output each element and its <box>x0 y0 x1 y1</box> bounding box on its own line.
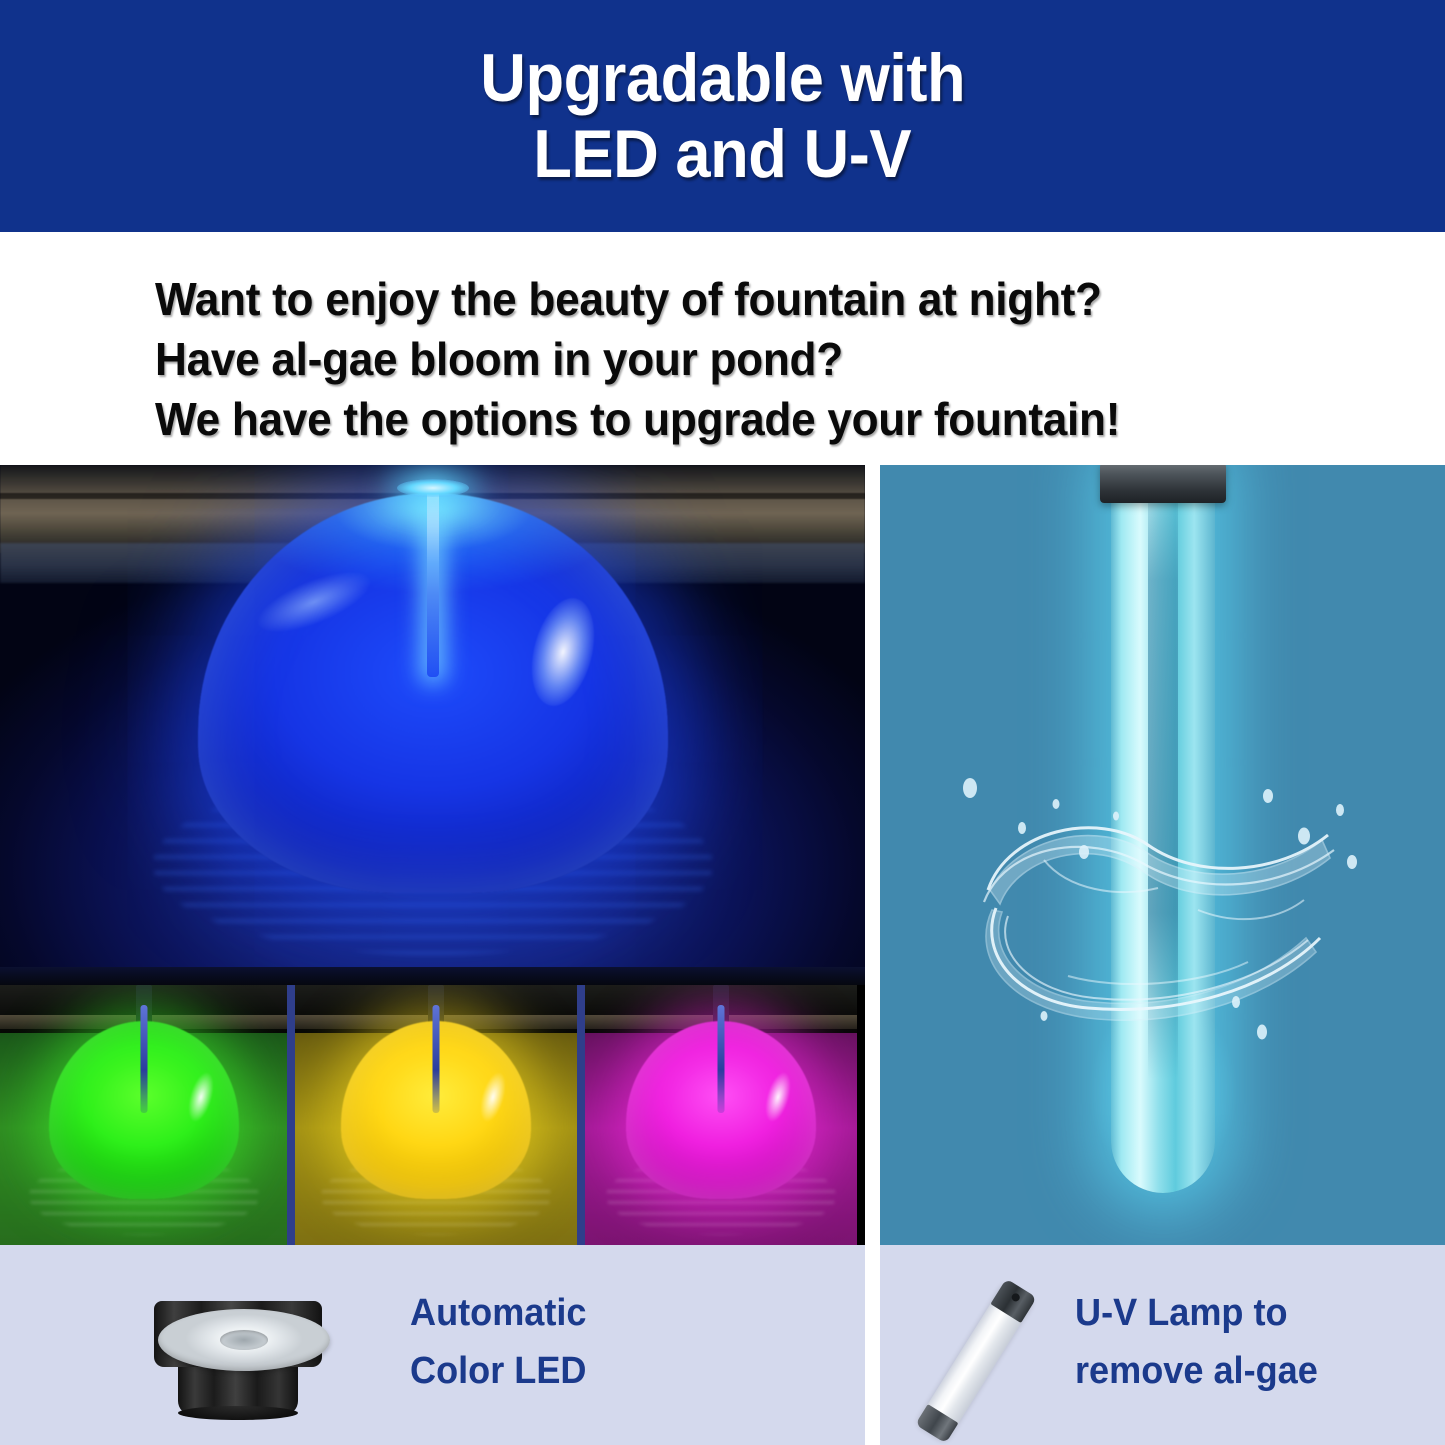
subhead-line-1: Want to enjoy the beauty of fountain at … <box>155 270 1393 330</box>
uv-caption-block: U-V Lamp to remove al-gae <box>880 1245 1445 1445</box>
uv-caption-line-1: U-V Lamp to <box>1075 1285 1318 1343</box>
uv-lamp-photo <box>880 465 1445 1245</box>
banner-line-2: LED and U-V <box>534 116 912 192</box>
uv-inner-core <box>1148 465 1178 1105</box>
banner-line-1: Upgradable with <box>480 40 965 116</box>
led-lens <box>158 1309 330 1371</box>
led-upper-housing <box>154 1301 322 1367</box>
led-caption-block: Automatic Color LED <box>0 1245 865 1445</box>
pool-bottom-strip <box>0 967 865 985</box>
header-banner: Upgradable with LED and U-V <box>0 0 1445 232</box>
fountain-nozzle-jet <box>433 1005 440 1113</box>
uv-lamp-top-cap <box>990 1279 1036 1324</box>
fountain-nozzle-cap <box>397 479 469 497</box>
led-caption-line-1: Automatic <box>410 1285 587 1343</box>
fountain-nozzle-jet <box>718 1005 725 1113</box>
led-caption-line-2: Color LED <box>410 1343 587 1401</box>
blue-fountain-dome-photo <box>0 465 865 985</box>
uv-lamp-bottom-cap <box>915 1404 958 1443</box>
fountain-nozzle-jet <box>140 1005 147 1113</box>
led-fountain-photo <box>0 465 865 1245</box>
uv-glass-tube <box>1111 465 1215 1193</box>
caption-bar: Automatic Color LED U-V Lamp to remove a… <box>0 1245 1445 1445</box>
fountain-nozzle-jet <box>427 487 439 677</box>
subhead-block: Want to enjoy the beauty of fountain at … <box>0 232 1445 465</box>
uv-lamp-rod <box>916 1280 1036 1442</box>
color-thumbnail-strip <box>0 985 865 1245</box>
caption-divider <box>865 1245 880 1445</box>
subhead-line-2: Have al-gae bloom in your pond? <box>155 330 1393 390</box>
subhead-line-3: We have the options to upgrade your foun… <box>155 390 1393 450</box>
green-fountain-thumb <box>0 985 295 1245</box>
uv-caption-line-2: remove al-gae <box>1075 1343 1318 1401</box>
magenta-fountain-thumb <box>585 985 857 1245</box>
photo-row <box>0 465 1445 1245</box>
led-puck-icon <box>148 1267 328 1427</box>
uv-tube-cap <box>1100 465 1226 503</box>
yellow-fountain-thumb <box>295 985 585 1245</box>
